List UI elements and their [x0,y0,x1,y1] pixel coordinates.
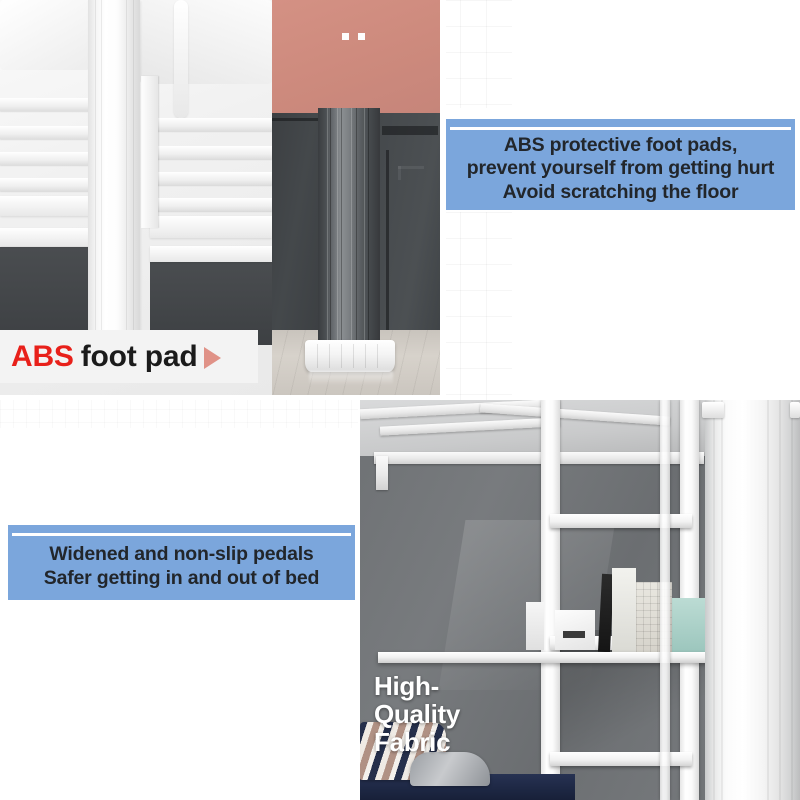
shelf-board [378,652,733,663]
bed-frame-left [0,196,96,216]
bed-slat-r1 [152,118,272,131]
salmon-wall-block [270,0,440,113]
slat-bracket-right [141,76,158,228]
post-cap-left [702,402,724,418]
box-white-front [555,610,595,650]
ceiling-rail-front [374,452,704,464]
post-inner-edge [660,400,670,800]
banner-abs-foot-pads: ABS protective foot pads, prevent yourse… [446,119,795,210]
abs-foot-pad-caption: ABS foot pad [0,330,258,383]
fabric-caption-line-3: Fabric [374,728,460,756]
ladder-rung-3 [550,752,692,766]
banner-line-2: Safer getting in and out of bed [44,567,319,590]
white-corner-post [705,400,800,800]
feature-collage: ABS foot pad ABS protective foot pads, p… [0,0,800,800]
gray-pillow [410,752,490,786]
upper-mattress [0,0,90,70]
fabric-caption-line-2: Quality [374,700,460,728]
foot-pad-photo: ABS foot pad [0,0,440,395]
bed-slat-l3 [0,152,96,165]
upper-bedding [140,0,272,84]
box-white-slot [563,631,585,638]
bed-slat-l2 [0,126,96,139]
fabric-photo: High- Quality Fabric [360,400,800,800]
upper-round-rail [174,0,188,118]
book-stack-slim [526,602,544,650]
banner-non-slip-pedals: Widened and non-slip pedals Safer gettin… [8,525,355,600]
abs-caption-rest: foot pad [81,340,198,374]
banner-line-3: Avoid scratching the floor [503,181,739,204]
bed-slat-r3 [152,172,272,185]
book-printed-1 [612,568,636,652]
dark-bed-post [318,108,380,353]
ladder-rail-left [541,400,560,800]
furniture-handle-stem [398,166,401,180]
bed-slat-r4 [152,198,272,211]
bed-slat-l1 [0,98,96,111]
banner-line-1: Widened and non-slip pedals [49,543,313,566]
banner-hairline [12,533,351,536]
dark-furniture-right [380,110,440,360]
bed-underframe-right [150,246,272,262]
ceiling-rail-end [376,456,388,490]
abs-caption-highlight: ABS [11,340,74,374]
bed-underframe-left [0,228,92,246]
furniture-seam-2 [382,126,438,135]
banner-hairline [450,127,791,130]
background-grid-bottom-left [0,396,358,428]
ladder-rung-1 [550,514,692,528]
banner-line-1: ABS protective foot pads, [504,134,737,157]
triangle-right-icon [204,347,221,369]
fabric-caption-line-1: High- [374,672,460,700]
furniture-seam-3 [386,150,389,350]
post-cap-right [790,402,800,418]
white-bed-post [88,0,140,340]
banner-line-2: prevent yourself from getting hurt [467,157,774,180]
high-quality-fabric-caption: High- Quality Fabric [374,672,460,756]
furniture-handle [398,166,424,169]
bed-slat-r2 [152,146,272,159]
foot-pad-reflection [309,371,393,385]
seam-horizontal [0,395,440,400]
bed-slat-l4 [0,178,96,191]
wall-dot-left [342,33,349,40]
bed-frame-right [150,216,272,238]
abs-foot-pad [305,340,395,372]
wall-dot-right [358,33,365,40]
